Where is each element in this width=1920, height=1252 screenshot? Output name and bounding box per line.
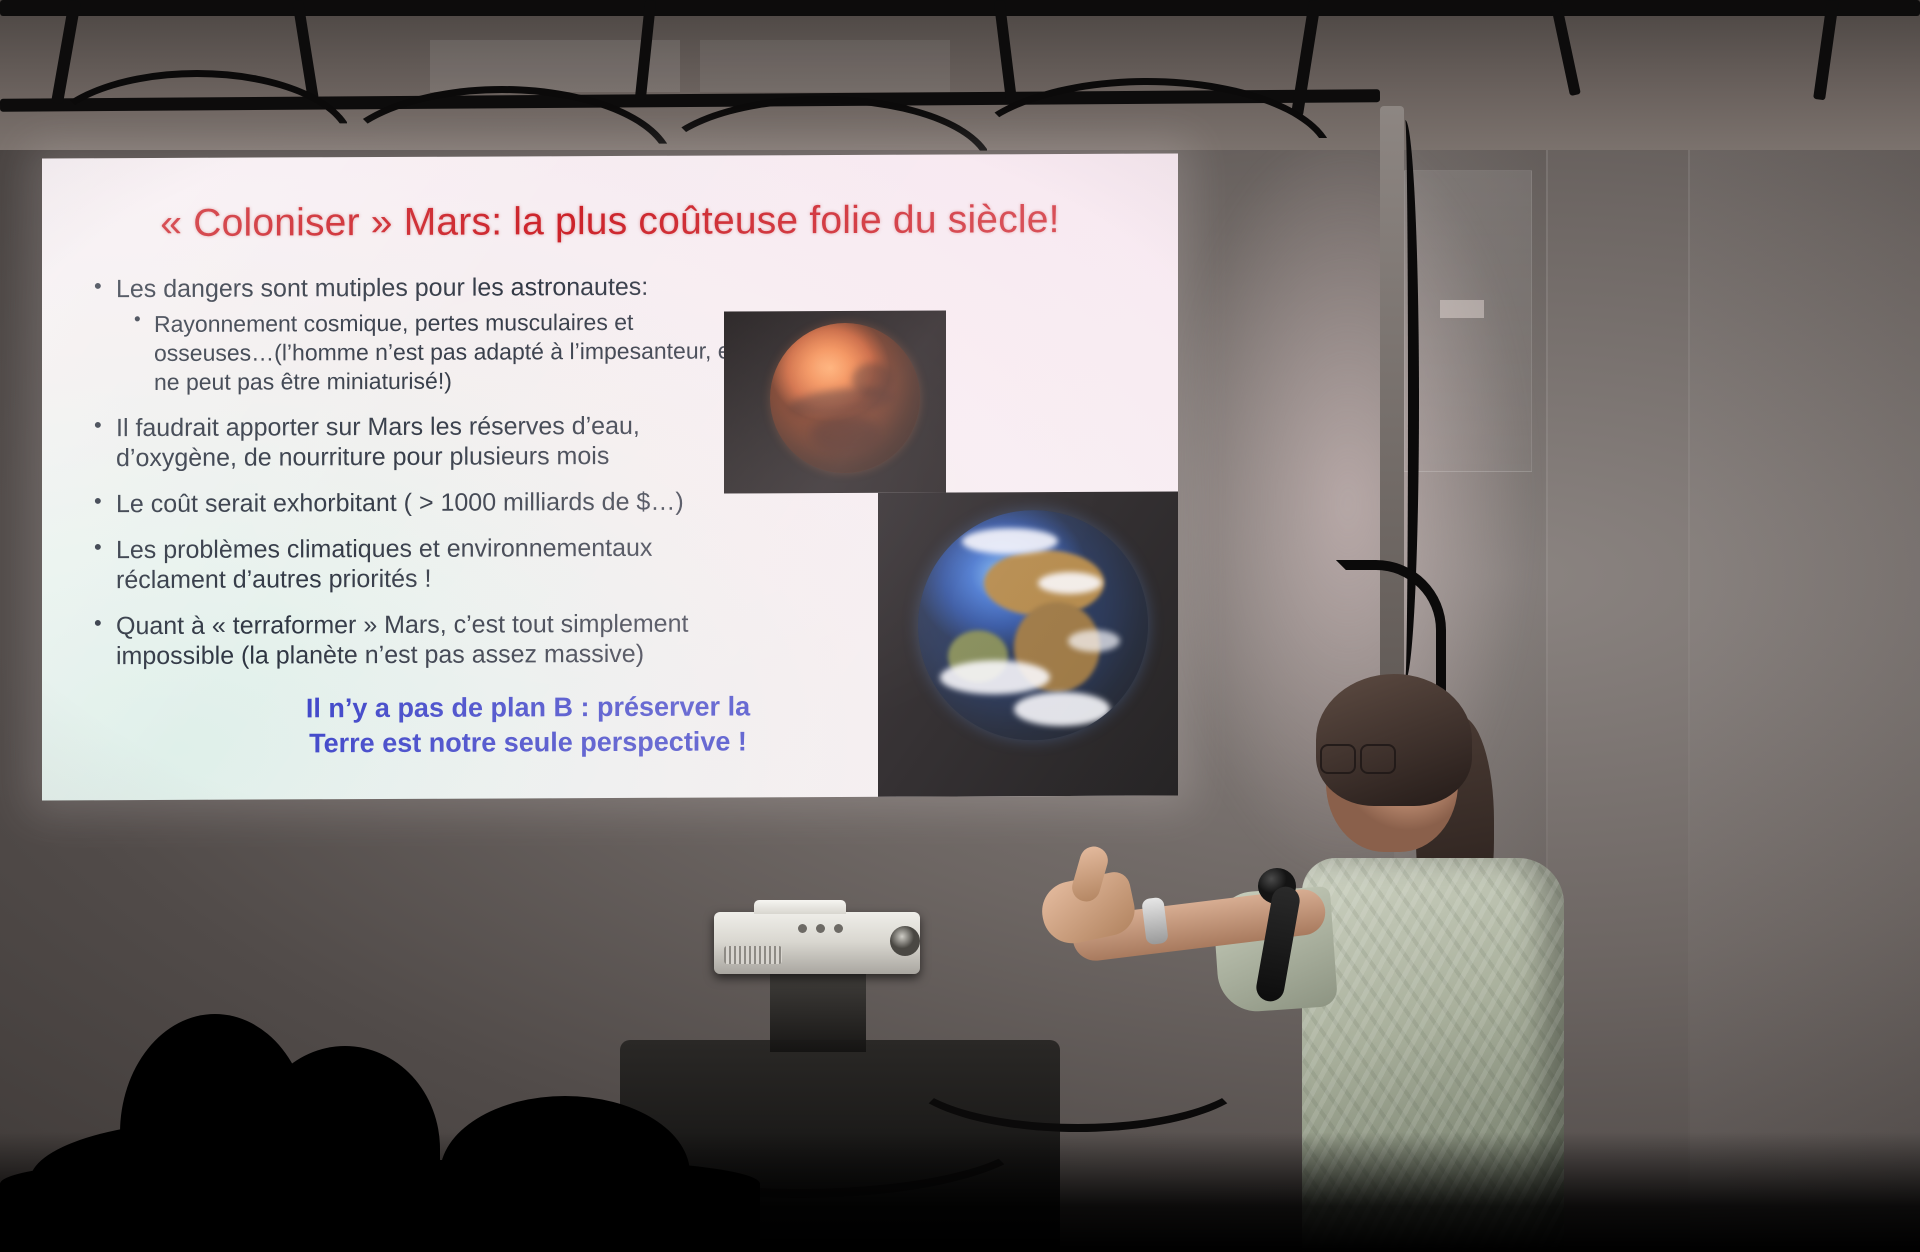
bullet-level1-4: Les problèmes climatiques et environneme…	[86, 532, 746, 595]
bullet-level1-3: Le coût serait exhorbitant ( > 1000 mill…	[86, 486, 746, 519]
bullet-level1-5: Quant à « terraformer » Mars, c’est tout…	[86, 608, 746, 671]
earth-cloud-3	[940, 660, 1050, 694]
bullet-group-1: Les dangers sont mutiples pour les astro…	[86, 271, 746, 397]
glasses-icon	[1320, 744, 1406, 774]
earth-planet-disc	[918, 510, 1148, 741]
slide-conclusion: Il n’y a pas de plan B : préserver la Te…	[248, 689, 808, 762]
slide-bullet-list: Les dangers sont mutiples pour les astro…	[86, 271, 746, 687]
foreground-shadow	[0, 1132, 1920, 1252]
projector-button-2[interactable]	[816, 924, 825, 933]
video-projector	[714, 912, 920, 974]
ceiling-beam-top	[0, 0, 1920, 16]
projector-button-3[interactable]	[834, 924, 843, 933]
mars-photo	[724, 311, 946, 494]
conference-photo-scene: « Coloniser » Mars: la plus coûteuse fol…	[0, 0, 1920, 1252]
wall-panel-far-right	[1690, 120, 1920, 1252]
bullet-level1-1: Les dangers sont mutiples pour les astro…	[86, 271, 746, 304]
bullet-level2-1: Rayonnement cosmique, pertes musculaires…	[128, 307, 746, 397]
ceiling-panel-2	[700, 40, 950, 92]
speaker-hair	[1316, 674, 1472, 806]
bullet-level1-2: Il faudrait apporter sur Mars les réserv…	[86, 410, 746, 473]
projector-button-1[interactable]	[798, 924, 807, 933]
wall-seam-c	[1688, 130, 1690, 1252]
conclusion-line-1: Il n’y a pas de plan B : préserver la	[248, 689, 808, 727]
wall-frame-panel	[1404, 170, 1532, 472]
projector-vent	[724, 946, 782, 964]
earth-cloud-5	[1068, 630, 1120, 652]
projection-screen: « Coloniser » Mars: la plus coûteuse fol…	[42, 154, 1178, 801]
mars-planet-disc	[770, 323, 920, 474]
projector-lens	[890, 926, 920, 956]
mars-terminator-shading	[770, 323, 920, 474]
wall-label-plate	[1440, 300, 1484, 318]
earth-cloud-4	[1014, 692, 1110, 726]
slide-title: « Coloniser » Mars: la plus coûteuse fol…	[42, 198, 1178, 247]
floor-cable-2	[900, 1006, 1256, 1132]
projector-stand	[770, 974, 866, 1052]
conclusion-line-2: Terre est notre seule perspective !	[248, 724, 808, 762]
earth-photo	[878, 492, 1178, 797]
projector-top-cover	[754, 900, 846, 914]
